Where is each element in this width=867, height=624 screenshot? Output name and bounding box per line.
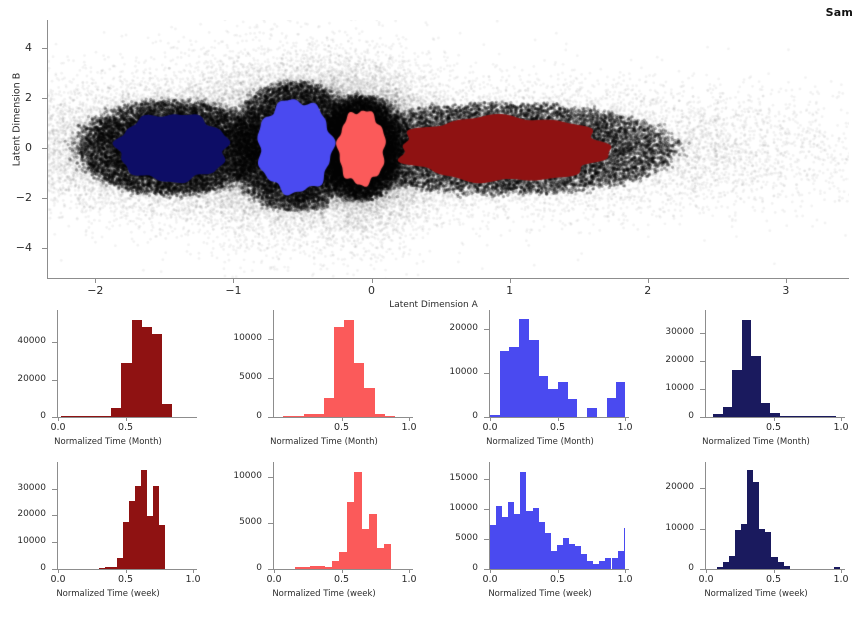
hist-y-tick [700,488,705,489]
hist-plot-area [490,314,625,417]
hist-x-tick [490,569,491,573]
hist-bar [283,416,293,417]
hist-bar [377,548,384,569]
hist-x-tick-label: 0.0 [688,574,724,585]
hist-y-tick-label: 10000 [216,334,262,343]
hist-x-axis-line [57,569,197,570]
hist-bar [310,566,317,569]
hist-bar [159,525,165,569]
hist-bar [132,320,142,417]
hist-x-axis-label: Normalized Time (week) [432,589,648,599]
hist-x-axis-line [705,417,845,418]
scatter-y-tick [42,198,47,199]
hist-x-tick [342,417,343,421]
hist-bar [784,566,790,569]
hist-y-tick [484,329,489,330]
hist-plot-area [706,466,841,569]
hist-bar [587,408,597,417]
hist-y-tick-label: 0 [648,412,694,421]
hist-bar [339,552,346,569]
hist-bar [558,382,568,418]
histogram-row-month: 020000400000.00.5Normalized Time (Month)… [0,306,867,456]
hist-bar [780,416,789,417]
hist-bar [302,567,309,569]
hist-x-tick-label: 1.0 [823,574,859,585]
hist-bar [61,416,71,417]
hist-y-tick-label: 10000 [216,472,262,481]
hist-x-tick-label: 0.0 [40,422,76,433]
hist-y-tick [700,417,705,418]
hist-x-tick [58,417,59,421]
hist-bar [344,320,354,417]
hist-bar [81,416,91,417]
hist-x-tick [126,569,127,573]
hist-y-tick [268,569,273,570]
hist-bar [71,416,81,417]
hist-y-tick [484,509,489,510]
hist-bar [334,327,344,418]
hist-y-tick [52,515,57,516]
scatter-plot-area [48,20,849,278]
hist-x-tick [490,417,491,421]
hist-x-tick [625,417,626,421]
hist-y-tick-label: 40000 [0,337,46,346]
hist-y-tick-label: 10000 [432,504,478,513]
hist-bar [354,472,361,569]
hist-y-tick [52,417,57,418]
hist-y-tick [700,569,705,570]
hist-x-tick-label: 1.0 [391,574,427,585]
hist-y-tick-label: 30000 [648,328,694,337]
hist-x-tick [774,417,775,421]
hist-x-tick [558,417,559,421]
scatter-y-tick [42,148,47,149]
hist-y-tick [52,489,57,490]
histogram-panel-hist-week-navy: 010000200000.00.51.0Normalized Time (wee… [648,458,864,608]
hist-y-tick [268,339,273,340]
scatter-x-tick [510,278,511,283]
histogram-panel-hist-week-darkred: 01000020000300000.00.51.0Normalized Time… [0,458,216,608]
hist-x-tick-label: 0.5 [756,574,792,585]
scatter-x-tick-label: 0 [352,284,392,297]
histogram-panel-hist-month-navy: 01000020000300000.51.0Normalized Time (M… [648,306,864,456]
hist-y-tick [700,529,705,530]
hist-x-tick-label: 0.0 [40,574,76,585]
hist-bar [827,416,836,417]
hist-y-tick-label: 0 [216,564,262,573]
hist-x-tick [342,569,343,573]
latent-scatter-panel: −4−2024−2−10123 Latent Dimension B Laten… [0,14,867,306]
hist-bar [761,403,770,417]
hist-bar [295,567,302,569]
scatter-x-tick-label: 2 [628,284,668,297]
scatter-x-tick-label: −1 [213,284,253,297]
hist-bar [770,413,779,417]
hist-x-axis-label: Normalized Time (Month) [432,437,648,447]
histogram-grid: 020000400000.00.5Normalized Time (Month)… [0,306,867,624]
hist-y-tick [52,569,57,570]
hist-y-tick-label: 5000 [432,534,478,543]
hist-bar [375,414,385,418]
scatter-y-tick [42,248,47,249]
hist-bar [500,351,510,417]
hist-y-tick-label: 20000 [0,510,46,519]
hist-x-tick-label: 0.5 [540,422,576,433]
hist-x-tick-label: 0.0 [472,422,508,433]
hist-bar [713,414,722,417]
hist-y-tick-label: 20000 [432,324,478,333]
scatter-x-tick [786,278,787,283]
hist-y-tick [484,417,489,418]
hist-y-tick [484,569,489,570]
hist-x-tick [625,569,626,573]
hist-x-axis-line [489,417,629,418]
histogram-row-week: 01000020000300000.00.51.0Normalized Time… [0,458,867,608]
hist-plot-area [490,466,625,569]
scatter-y-tick [42,98,47,99]
hist-x-tick [126,417,127,421]
histogram-panel-hist-month-darkred: 020000400000.00.5Normalized Time (Month) [0,306,216,456]
hist-y-tick [700,361,705,362]
hist-plot-area [58,314,193,417]
scatter-x-tick [372,278,373,283]
scatter-x-tick [233,278,234,283]
hist-y-tick-label: 20000 [648,356,694,365]
hist-bar [314,414,324,417]
hist-y-tick [52,542,57,543]
hist-bar [354,363,364,417]
hist-y-tick-label: 20000 [648,483,694,492]
hist-x-tick [193,569,194,573]
hist-bar [364,388,374,417]
hist-bar [539,376,549,417]
hist-x-tick [409,569,410,573]
hist-bar [808,416,817,417]
hist-bar [325,567,332,569]
scatter-y-tick-label: −4 [0,241,32,254]
scatter-x-tick-label: 3 [766,284,806,297]
hist-plot-area [706,314,841,417]
hist-x-axis-line [57,417,197,418]
hist-bar [723,407,732,417]
hist-bar [732,370,741,417]
hist-x-tick-label: 0.5 [108,422,144,433]
hist-bar [369,514,376,569]
hist-y-tick-label: 0 [0,564,46,573]
hist-x-tick-label: 0.5 [108,574,144,585]
scatter-y-tick [42,48,47,49]
hist-y-tick-label: 0 [648,564,694,573]
hist-x-tick-label: 1.0 [607,422,643,433]
hist-y-tick-label: 0 [216,412,262,421]
scatter-y-axis-line [47,20,48,278]
scatter-x-tick [648,278,649,283]
hist-y-tick [700,389,705,390]
hist-x-tick [841,569,842,573]
hist-bar [121,363,131,417]
hist-y-tick [52,342,57,343]
hist-bar [162,404,172,417]
histogram-panel-hist-week-salmon: 05000100000.00.51.0Normalized Time (week… [216,458,432,608]
hist-x-tick [274,569,275,573]
hist-x-tick-label: 0.5 [324,422,360,433]
hist-y-tick-label: 5000 [216,518,262,527]
hist-y-tick [268,523,273,524]
hist-x-axis-line [489,569,629,570]
hist-x-tick [558,569,559,573]
hist-bar [509,347,519,417]
scatter-x-tick [95,278,96,283]
hist-x-tick-label: 1.0 [391,422,427,433]
hist-bar [324,398,334,417]
figure-canvas: Sam −4−2024−2−10123 Latent Dimension B L… [0,0,867,624]
hist-bar [742,320,751,417]
histogram-panel-hist-week-royal: 0500010000150000.00.51.0Normalized Time … [432,458,648,608]
hist-bar [607,398,617,417]
hist-plot-area [58,466,193,569]
hist-x-tick [409,417,410,421]
scatter-x-axis-line [47,278,849,279]
hist-x-axis-label: Normalized Time (Month) [0,437,216,447]
hist-bar [519,319,529,417]
hist-bar [751,356,760,417]
hist-x-axis-label: Normalized Time (week) [216,589,432,599]
scatter-y-axis-label: Latent Dimension B [12,55,23,185]
hist-bar [111,408,121,417]
hist-y-tick-label: 30000 [0,484,46,493]
hist-y-tick [484,539,489,540]
hist-y-tick [268,417,273,418]
hist-bar [332,561,339,569]
scatter-x-tick-label: −2 [75,284,115,297]
hist-y-tick-label: 20000 [0,375,46,384]
hist-y-tick [484,373,489,374]
hist-bar [529,340,539,417]
hist-plot-area [274,314,409,417]
hist-x-axis-line [705,569,845,570]
hist-bar [490,415,500,417]
hist-y-tick [268,378,273,379]
hist-x-axis-label: Normalized Time (Month) [648,437,864,447]
histogram-panel-hist-month-royal: 010000200000.00.51.0Normalized Time (Mon… [432,306,648,456]
hist-bar [548,389,558,417]
hist-x-axis-label: Normalized Time (week) [0,589,216,599]
hist-x-tick-label: 0.5 [540,574,576,585]
hist-x-tick-label: 1.0 [607,574,643,585]
hist-y-tick-label: 10000 [648,384,694,393]
hist-x-tick [706,569,707,573]
hist-x-tick-label: 0.5 [324,574,360,585]
hist-x-tick-label: 0.5 [756,422,792,433]
hist-bar [798,416,807,417]
hist-x-axis-line [273,569,413,570]
hist-bar [101,416,111,417]
hist-y-tick-label: 0 [432,412,478,421]
hist-bar [347,502,354,569]
hist-bar [362,529,369,569]
hist-x-tick-label: 0.0 [472,574,508,585]
hist-y-tick [268,477,273,478]
hist-x-axis-label: Normalized Time (Month) [216,437,432,447]
hist-y-tick-label: 15000 [432,474,478,483]
hist-x-tick [58,569,59,573]
hist-y-tick-label: 0 [0,412,46,421]
hist-bar [568,399,578,417]
hist-bar [616,382,625,417]
histogram-panel-hist-month-salmon: 05000100000.51.0Normalized Time (Month) [216,306,432,456]
hist-bar [152,334,162,417]
scatter-points-canvas [48,20,849,278]
hist-y-tick [700,333,705,334]
hist-x-tick [841,417,842,421]
hist-bar [91,416,101,417]
hist-bar [142,327,152,417]
scatter-x-tick-label: 1 [490,284,530,297]
hist-y-tick-label: 5000 [216,373,262,382]
hist-x-tick-label: 0.0 [256,574,292,585]
scatter-y-tick-label: 4 [0,41,32,54]
hist-x-axis-label: Normalized Time (week) [648,589,864,599]
hist-bar [834,567,840,569]
hist-y-tick [52,380,57,381]
hist-bar [624,528,625,569]
hist-bar [384,544,391,569]
hist-x-tick [774,569,775,573]
hist-bar [317,566,324,569]
hist-plot-area [274,466,409,569]
scatter-y-tick-label: −2 [0,191,32,204]
hist-x-tick-label: 1.0 [823,422,859,433]
hist-bar [817,416,826,417]
hist-x-axis-line [273,417,413,418]
hist-bar [789,416,798,417]
hist-x-tick-label: 1.0 [175,574,211,585]
hist-bar [304,414,314,417]
hist-y-tick-label: 10000 [0,537,46,546]
hist-bar [385,416,395,417]
hist-bar [294,416,304,417]
hist-y-tick [484,479,489,480]
hist-y-tick-label: 0 [432,564,478,573]
hist-y-tick-label: 10000 [648,524,694,533]
hist-y-tick-label: 10000 [432,368,478,377]
